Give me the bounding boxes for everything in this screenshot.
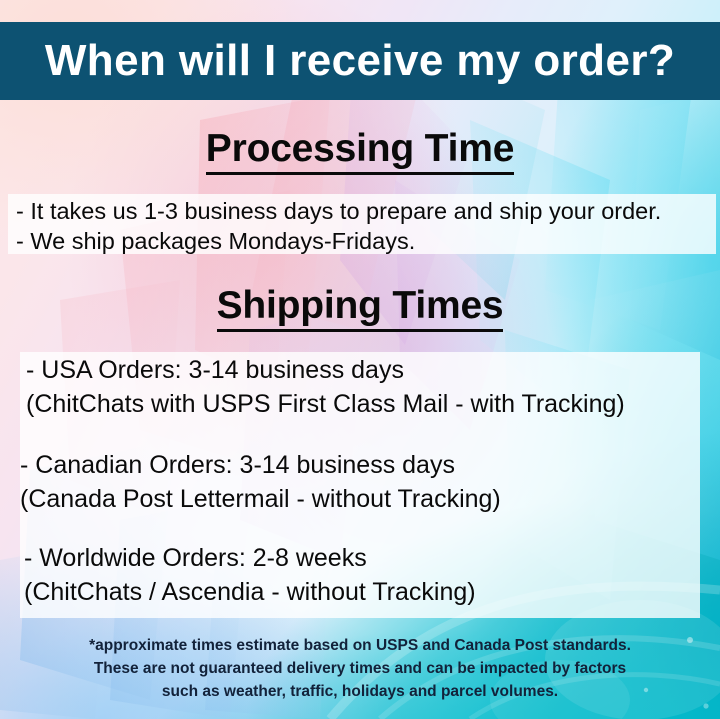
shipping-group-canada: - Canadian Orders: 3-14 business days (C… [20,448,501,516]
shipping-group-usa: - USA Orders: 3-14 business days (ChitCh… [26,353,625,421]
processing-time-heading-text: Processing Time [206,127,514,175]
processing-line: - It takes us 1-3 business days to prepa… [16,196,661,226]
processing-line: - We ship packages Mondays-Fridays. [16,226,661,256]
processing-time-heading: Processing Time [0,127,720,175]
processing-time-lines: - It takes us 1-3 business days to prepa… [16,196,661,256]
shipping-group-title: - USA Orders: 3-14 business days [26,353,625,387]
footer-line: These are not guaranteed delivery times … [0,657,720,680]
page-title: When will I receive my order? [45,39,675,83]
footer-disclaimer: *approximate times estimate based on USP… [0,634,720,703]
shipping-group-detail: (Canada Post Lettermail - without Tracki… [20,482,501,516]
shipping-group-worldwide: - Worldwide Orders: 2-8 weeks (ChitChats… [24,541,476,609]
shipping-group-detail: (ChitChats / Ascendia - without Tracking… [24,575,476,609]
footer-line: *approximate times estimate based on USP… [0,634,720,657]
shipping-times-heading: Shipping Times [0,284,720,332]
shipping-group-detail: (ChitChats with USPS First Class Mail - … [26,387,625,421]
header-band: When will I receive my order? [0,22,720,100]
shipping-group-title: - Worldwide Orders: 2-8 weeks [24,541,476,575]
shipping-group-title: - Canadian Orders: 3-14 business days [20,448,501,482]
poster-canvas: When will I receive my order? Processing… [0,0,720,719]
shipping-times-heading-text: Shipping Times [217,284,504,332]
footer-line: such as weather, traffic, holidays and p… [0,680,720,703]
